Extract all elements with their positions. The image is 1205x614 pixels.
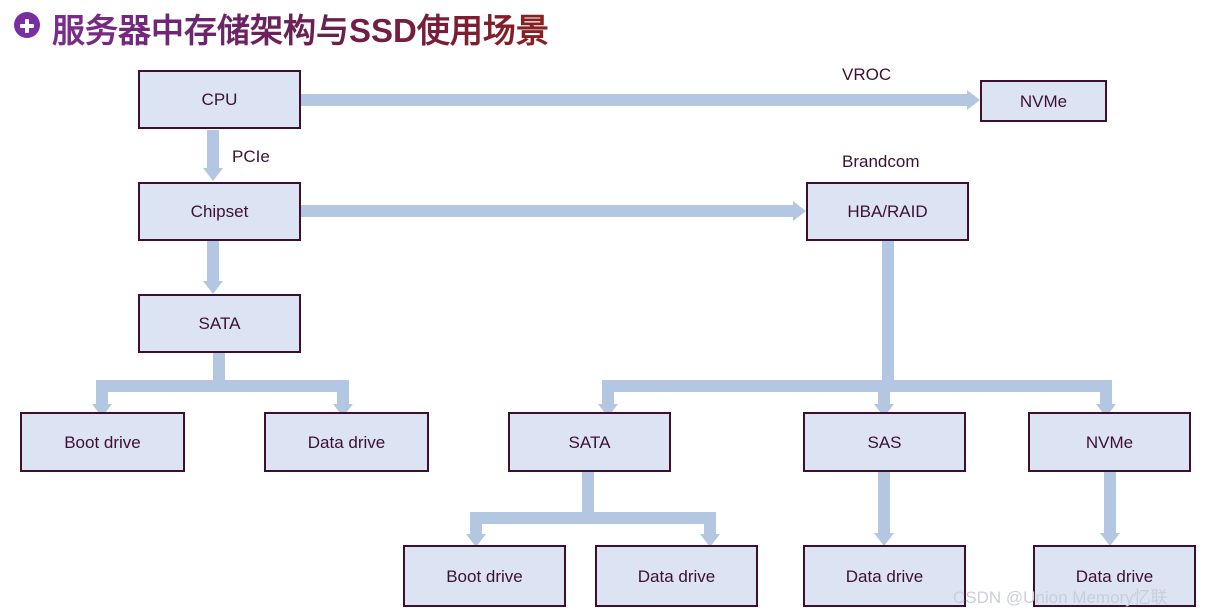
node-sas[interactable]: SAS bbox=[803, 412, 966, 472]
edge-label-vroc: VROC bbox=[842, 65, 891, 85]
plus-vertical-stroke bbox=[25, 19, 29, 33]
page-title: 服务器中存储架构与SSD使用场景 bbox=[52, 4, 549, 52]
diagram-canvas: 服务器中存储架构与SSD使用场景 VROC PCIe Brandcom CPU … bbox=[0, 0, 1205, 614]
arrow-sata-right-stem bbox=[582, 472, 594, 514]
arrow-cpu-to-nvme-shaft bbox=[301, 94, 967, 106]
node-chipset[interactable]: Chipset bbox=[138, 182, 301, 241]
arrow-hba-drop-sata bbox=[602, 380, 614, 406]
arrow-sata-right-drop-boot bbox=[470, 512, 482, 536]
arrow-sata-right-bus bbox=[470, 512, 716, 524]
edge-label-pcie: PCIe bbox=[232, 147, 270, 167]
page-title-bar: 服务器中存储架构与SSD使用场景 bbox=[0, 0, 1205, 52]
arrow-cpu-to-nvme-head bbox=[967, 90, 980, 110]
node-data-drive-left[interactable]: Data drive bbox=[264, 412, 429, 472]
arrow-sata-left-drop-boot bbox=[96, 380, 108, 406]
node-data-drive-bottom[interactable]: Data drive bbox=[595, 545, 758, 607]
plus-circle-icon bbox=[14, 12, 40, 38]
arrow-hba-stem bbox=[882, 240, 894, 382]
node-data-drive-sas[interactable]: Data drive bbox=[803, 545, 966, 607]
arrow-chipset-to-sata-head bbox=[203, 281, 223, 294]
node-boot-drive-left[interactable]: Boot drive bbox=[20, 412, 185, 472]
arrow-sata-left-bus bbox=[96, 380, 349, 392]
arrow-cpu-to-chipset-head bbox=[203, 168, 223, 181]
arrow-sata-left-drop-data bbox=[337, 380, 349, 406]
arrow-sata-left-stem bbox=[213, 352, 225, 382]
arrow-chipset-to-hba-shaft bbox=[301, 205, 793, 217]
node-boot-drive-bottom[interactable]: Boot drive bbox=[403, 545, 566, 607]
arrow-chipset-to-hba-head bbox=[793, 201, 806, 221]
arrow-hba-drop-sas bbox=[878, 380, 890, 406]
node-hba-raid[interactable]: HBA/RAID bbox=[806, 182, 969, 241]
node-nvme-top[interactable]: NVMe bbox=[980, 80, 1107, 122]
node-nvme-right[interactable]: NVMe bbox=[1028, 412, 1191, 472]
arrow-chipset-to-sata-shaft bbox=[207, 241, 219, 281]
edge-label-brandcom: Brandcom bbox=[842, 152, 919, 172]
node-sata-right[interactable]: SATA bbox=[508, 412, 671, 472]
node-cpu[interactable]: CPU bbox=[138, 70, 301, 129]
arrow-sata-right-drop-data bbox=[704, 512, 716, 536]
arrow-hba-bus bbox=[602, 380, 1112, 392]
arrow-sas-to-data-shaft bbox=[878, 472, 890, 534]
arrow-nvme-to-data-shaft bbox=[1104, 472, 1116, 534]
arrow-hba-drop-nvme bbox=[1100, 380, 1112, 406]
arrow-cpu-to-chipset-shaft bbox=[207, 130, 219, 168]
node-sata-left[interactable]: SATA bbox=[138, 294, 301, 353]
watermark: CSDN @Union Memory忆联 bbox=[953, 583, 1168, 608]
